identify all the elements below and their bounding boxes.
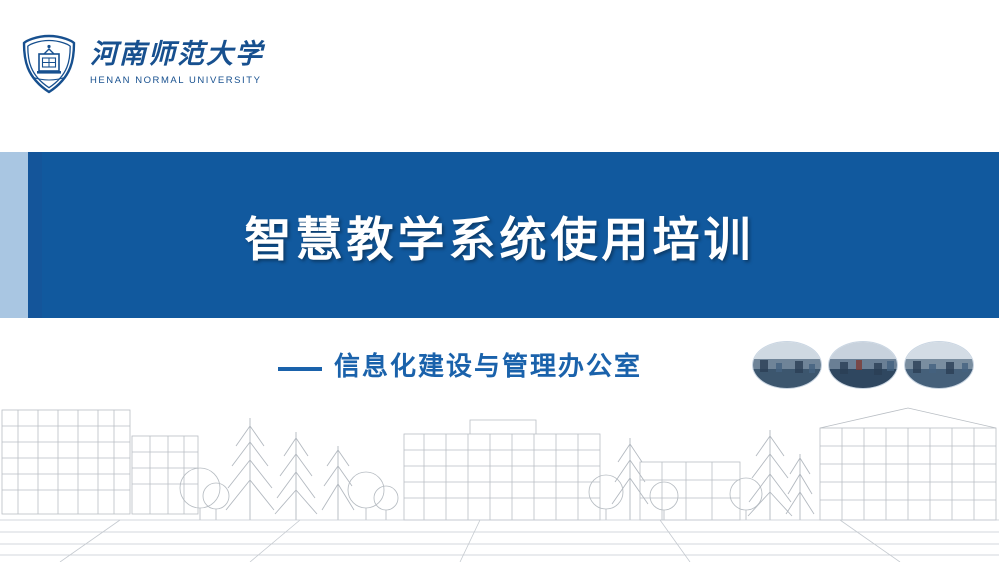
subtitle-text: 信息化建设与管理办公室 — [334, 346, 642, 383]
logo-name-cn: 河南师范大学 — [90, 40, 264, 70]
logo-name-en: HENAN NORMAL UNIVERSITY — [90, 75, 264, 86]
page-title: 智慧教学系统使用培训 — [0, 152, 999, 318]
subtitle-dash — [278, 367, 322, 371]
title-slide: 河南师范大学 HENAN NORMAL UNIVERSITY 智慧教学系统使用培… — [0, 0, 999, 562]
photo-oval-group — [752, 341, 974, 389]
classroom-photo-2 — [828, 341, 898, 389]
campus-line-art-panorama — [0, 392, 999, 562]
university-logo: 河南师范大学 HENAN NORMAL UNIVERSITY — [18, 24, 278, 104]
classroom-photo-3 — [904, 341, 974, 389]
logo-text-block: 河南师范大学 HENAN NORMAL UNIVERSITY — [90, 40, 264, 89]
university-crest-emblem — [18, 33, 80, 95]
classroom-photo-1 — [752, 341, 822, 389]
